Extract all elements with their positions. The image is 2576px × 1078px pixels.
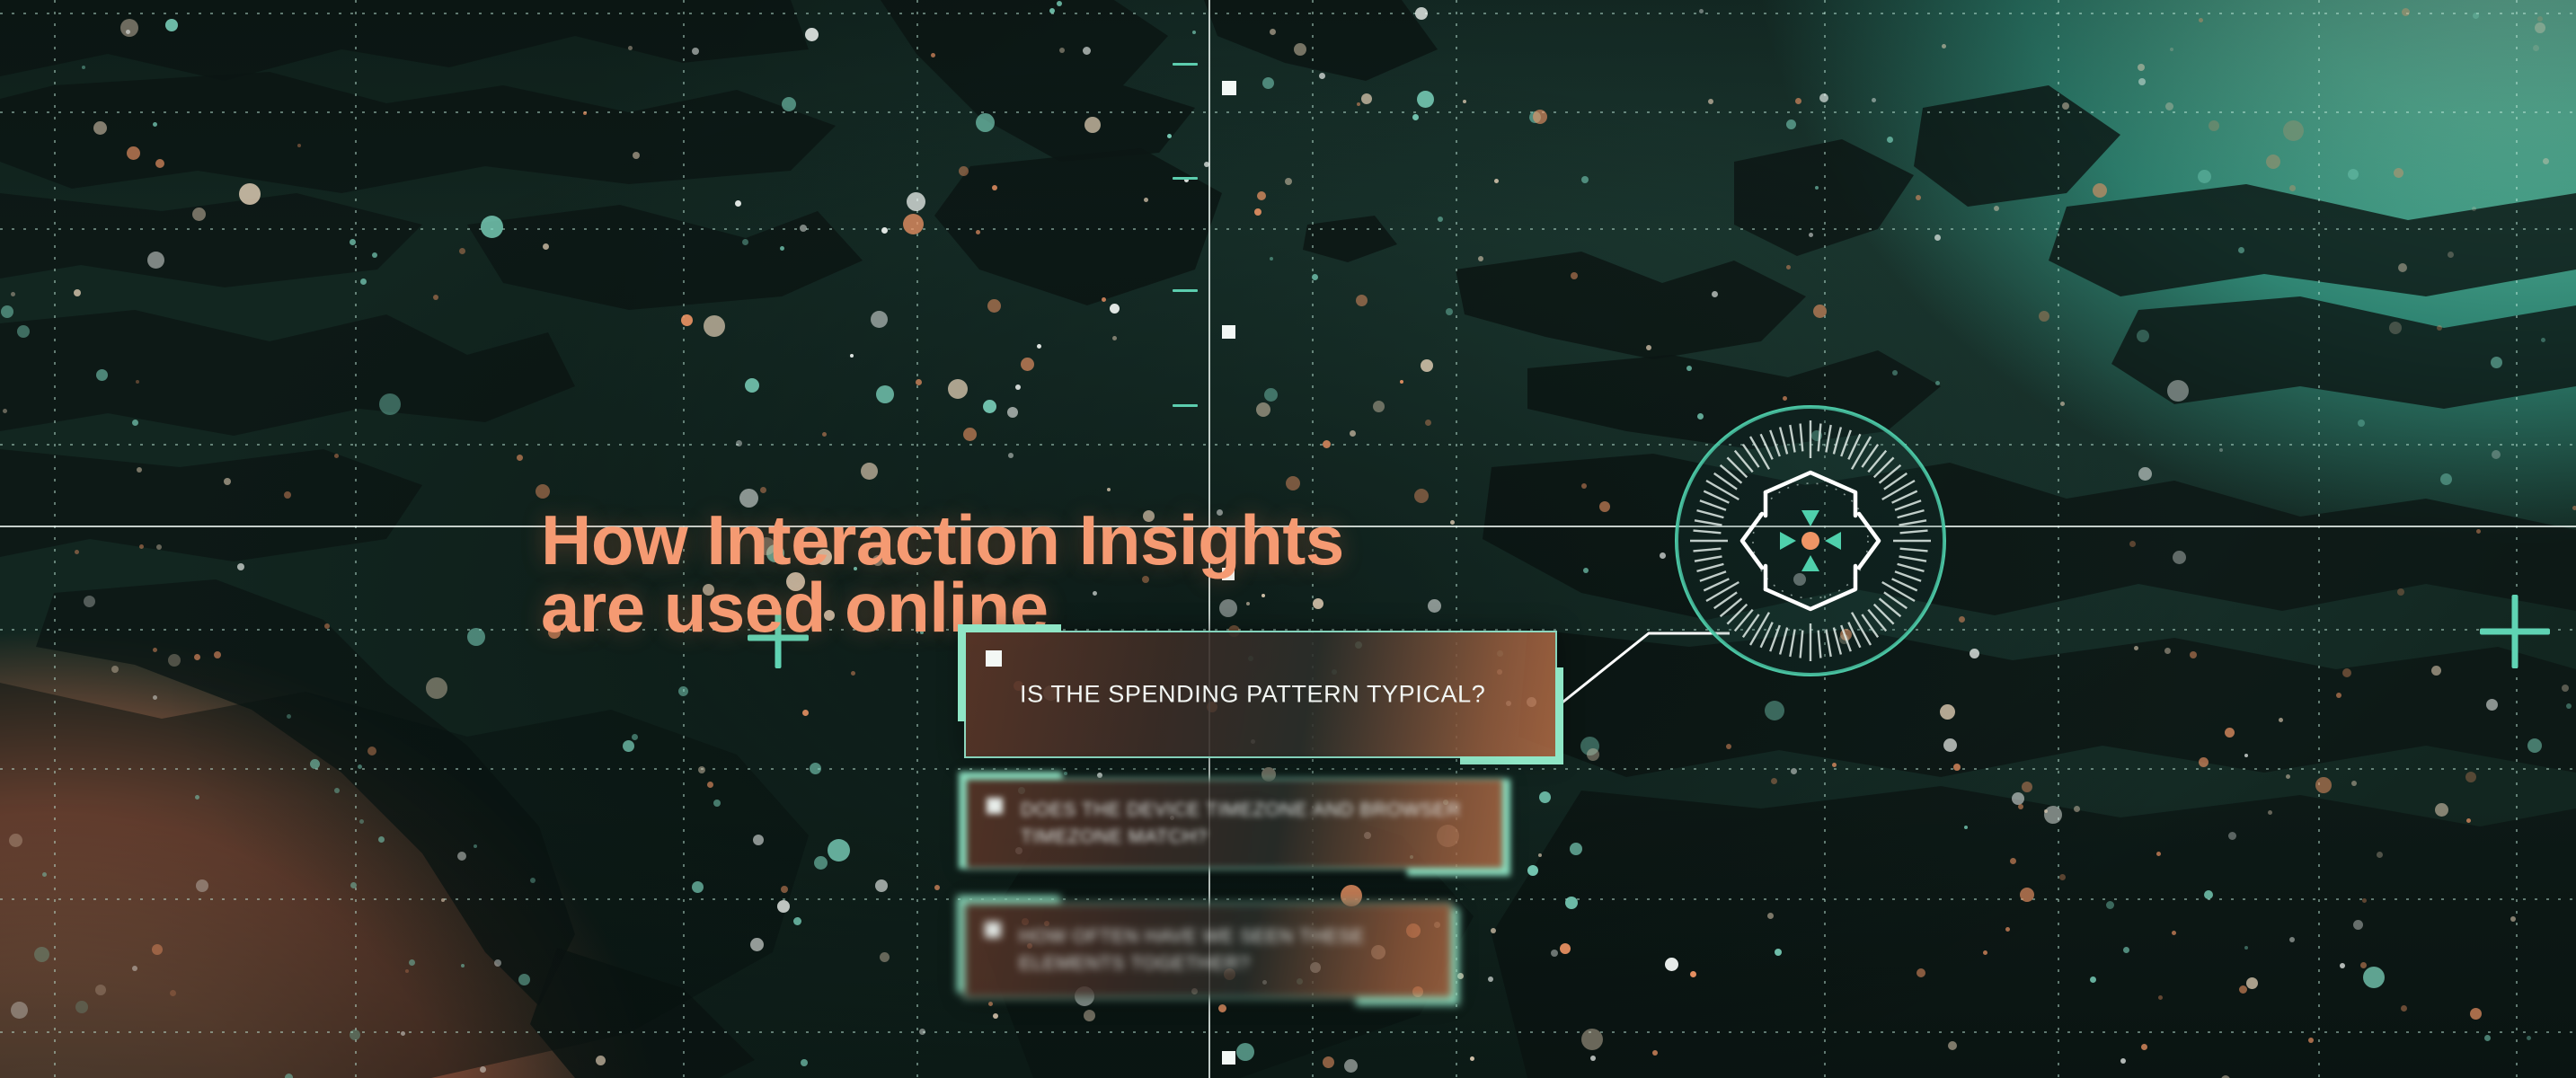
card-corner-bracket-top-left: [959, 772, 967, 869]
card-corner-bracket-bottom-right: [1555, 667, 1563, 764]
crosshair-vertical-bar: [2512, 595, 2518, 668]
card-label: IS THE SPENDING PATTERN TYPICAL?: [1020, 681, 1528, 709]
question-card-elements-together[interactable]: HOW OFTEN HAVE WE SEEN THESE ELEMENTS TO…: [963, 902, 1453, 999]
page-title: How Interaction Insights are used online: [541, 507, 1344, 641]
card-square-bullet-icon: [985, 922, 1001, 938]
card-label: HOW OFTEN HAVE WE SEEN THESE ELEMENTS TO…: [1019, 923, 1424, 977]
scanline-marker-square: [1222, 325, 1235, 339]
scanline-tick: [1173, 404, 1198, 407]
card-corner-bracket-bottom-right: [1356, 997, 1453, 1005]
scanline-marker-square: [1222, 81, 1236, 95]
card-corner-bracket-bottom-right: [1502, 779, 1510, 876]
card-corner-bracket-bottom-right: [1451, 908, 1459, 1005]
card-square-bullet-icon: [987, 798, 1003, 814]
card-corner-bracket-bottom-right: [1460, 756, 1557, 764]
scanline-tick: [1173, 63, 1198, 66]
question-card-timezone-match[interactable]: DOES THE DEVICE TIMEZONE AND BROWSER TIM…: [965, 778, 1504, 870]
card-corner-bracket-top-left: [957, 896, 965, 993]
crosshair-marker-right: [2480, 595, 2550, 668]
card-label: DOES THE DEVICE TIMEZONE AND BROWSER TIM…: [1021, 797, 1475, 851]
scanline-tick: [1173, 177, 1198, 180]
card-corner-bracket-top-left: [958, 624, 966, 721]
hero-banner: How Interaction Insights are used online…: [0, 0, 2576, 1078]
radar-target-reticle[interactable]: [1667, 397, 1954, 685]
card-square-bullet-icon: [986, 650, 1002, 667]
scanline-tick: [1173, 289, 1198, 292]
card-corner-bracket-top-left: [965, 772, 1062, 780]
card-corner-bracket-top-left: [964, 624, 1061, 632]
card-corner-bracket-top-left: [963, 896, 1060, 904]
scanline-marker-square: [1222, 1051, 1235, 1065]
question-card-spending-pattern[interactable]: IS THE SPENDING PATTERN TYPICAL?: [964, 631, 1557, 758]
reticle-center-dot: [1801, 532, 1819, 550]
card-corner-bracket-bottom-right: [1407, 868, 1504, 876]
